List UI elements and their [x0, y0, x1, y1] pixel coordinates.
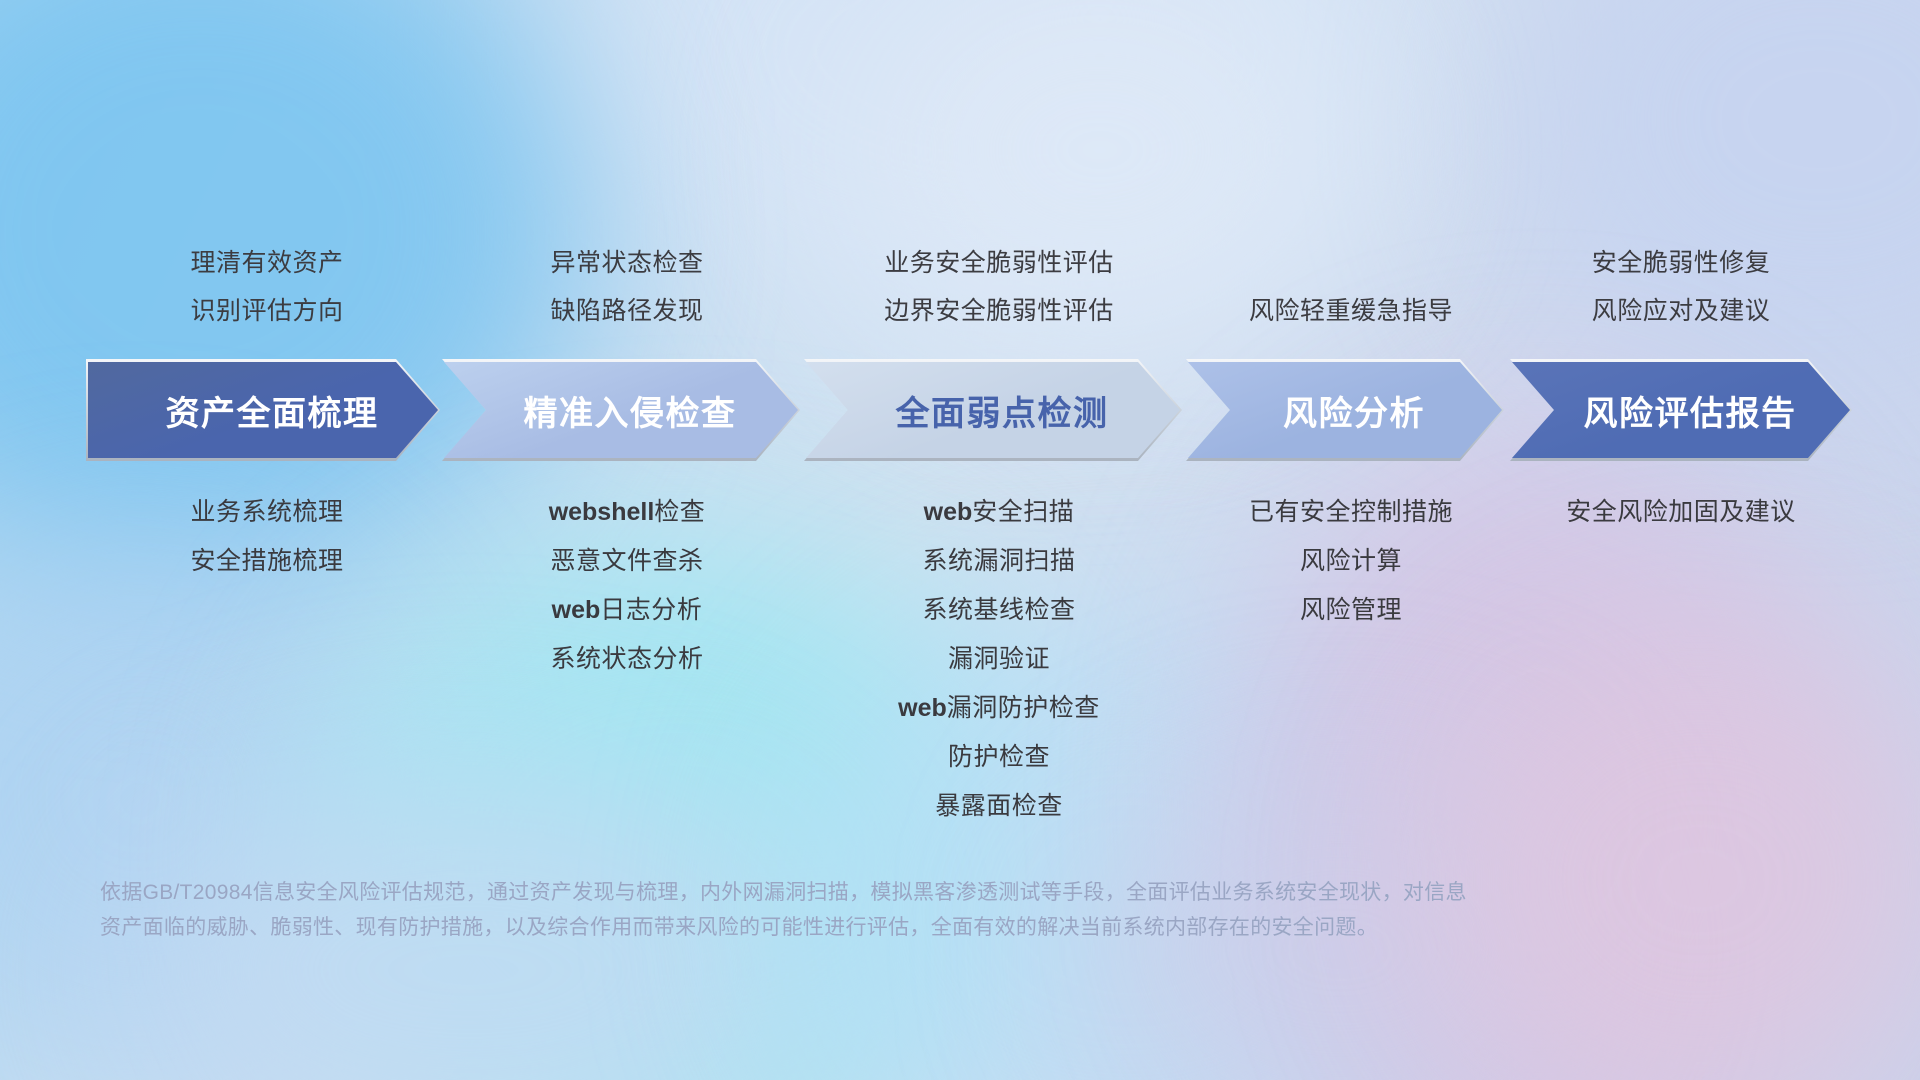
- stage-output-label: 防护检查: [948, 745, 1050, 770]
- stage-output-label: 已有安全控制措施: [1249, 500, 1453, 525]
- process-stage-label: 全面弱点检测: [806, 386, 1180, 435]
- stage-output-label: web漏洞防护检查: [898, 696, 1100, 721]
- stage-input-label: 缺陷路径发现: [550, 299, 703, 324]
- process-stage-label: 风险评估报告: [1512, 386, 1850, 435]
- stage-output-label: 系统基线检查: [922, 598, 1075, 623]
- stage-outputs-row: 业务系统梳理安全措施梳理webshell检查恶意文件查杀web日志分析系统状态分…: [0, 500, 1920, 843]
- stage-output-label: 漏洞验证: [948, 647, 1050, 672]
- process-stage-label: 精准入侵检查: [444, 386, 798, 435]
- stage-inputs-column: 异常状态检查缺陷路径发现: [446, 214, 808, 324]
- process-stage-label: 资产全面梳理: [88, 386, 438, 435]
- footer-description: 依据GB/T20984信息安全风险评估规范，通过资产发现与梳理，内外网漏洞扫描，…: [100, 876, 1620, 945]
- stage-input-label: 风险轻重缓急指导: [1249, 299, 1453, 324]
- stage-output-label: 系统漏洞扫描: [922, 549, 1075, 574]
- stage-outputs-column: 已有安全控制措施风险计算风险管理: [1190, 500, 1512, 647]
- process-stage-3[interactable]: 全面弱点检测: [806, 362, 1180, 458]
- stage-output-label: web日志分析: [552, 598, 703, 623]
- stage-input-label: 风险应对及建议: [1592, 299, 1771, 324]
- process-stage-2[interactable]: 精准入侵检查: [444, 362, 798, 458]
- process-stage-5[interactable]: 风险评估报告: [1512, 362, 1850, 458]
- stage-outputs-column: 安全风险加固及建议: [1512, 500, 1850, 549]
- stage-output-label: 恶意文件查杀: [550, 549, 703, 574]
- stage-input-label: 异常状态检查: [550, 251, 703, 276]
- stage-input-label: 边界安全脆弱性评估: [884, 299, 1114, 324]
- process-flow-band: 资产全面梳理精准入侵检查全面弱点检测风险分析风险评估报告: [88, 362, 1850, 458]
- stage-output-label: 风险管理: [1300, 598, 1402, 623]
- stage-input-label: 安全脆弱性修复: [1592, 251, 1771, 276]
- stage-input-label: 业务安全脆弱性评估: [884, 251, 1114, 276]
- stage-inputs-row: 理清有效资产识别评估方向异常状态检查缺陷路径发现业务安全脆弱性评估边界安全脆弱性…: [0, 214, 1920, 324]
- process-stage-1[interactable]: 资产全面梳理: [88, 362, 438, 458]
- process-stage-label: 风险分析: [1188, 386, 1502, 435]
- stage-output-label: web安全扫描: [924, 500, 1075, 525]
- footer-line-2: 资产面临的威胁、脆弱性、现有防护措施，以及综合作用而带来风险的可能性进行评估，全…: [100, 911, 1620, 946]
- stage-inputs-column: 业务安全脆弱性评估边界安全脆弱性评估: [808, 214, 1190, 324]
- stage-inputs-column: 理清有效资产识别评估方向: [88, 214, 446, 324]
- stage-output-label: 业务系统梳理: [190, 500, 343, 525]
- stage-inputs-column: 安全脆弱性修复风险应对及建议: [1512, 214, 1850, 324]
- stage-output-label: 系统状态分析: [550, 647, 703, 672]
- process-stage-4[interactable]: 风险分析: [1188, 362, 1502, 458]
- stage-outputs-column: web安全扫描系统漏洞扫描系统基线检查漏洞验证web漏洞防护检查防护检查暴露面检…: [808, 500, 1190, 843]
- stage-input-label: 理清有效资产: [190, 251, 343, 276]
- stage-output-label: 安全风险加固及建议: [1566, 500, 1796, 525]
- stage-outputs-column: 业务系统梳理安全措施梳理: [88, 500, 446, 598]
- stage-output-label: 安全措施梳理: [190, 549, 343, 574]
- stage-inputs-column: 风险轻重缓急指导: [1190, 214, 1512, 324]
- stage-output-label: 风险计算: [1300, 549, 1402, 574]
- stage-output-label: 暴露面检查: [935, 794, 1063, 819]
- footer-line-1: 依据GB/T20984信息安全风险评估规范，通过资产发现与梳理，内外网漏洞扫描，…: [100, 876, 1620, 911]
- stage-input-label: 识别评估方向: [190, 299, 343, 324]
- stage-outputs-column: webshell检查恶意文件查杀web日志分析系统状态分析: [446, 500, 808, 696]
- stage-output-label: webshell检查: [549, 500, 706, 525]
